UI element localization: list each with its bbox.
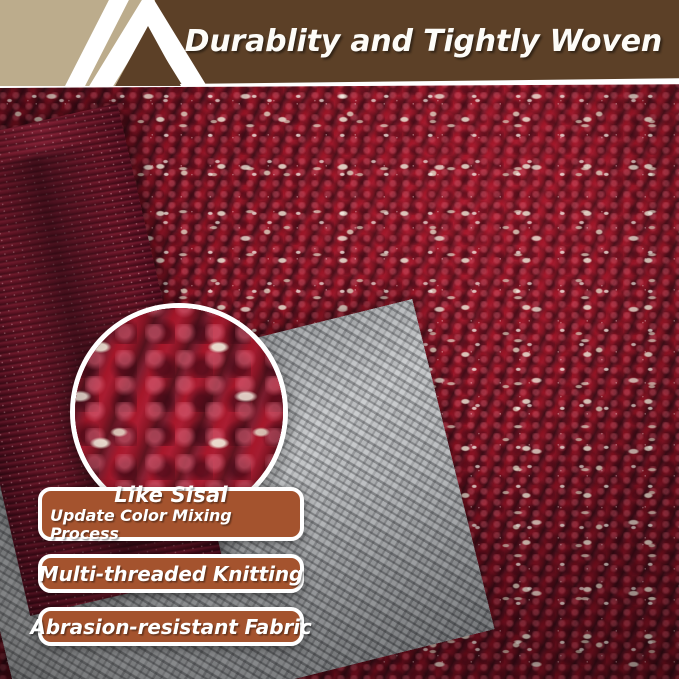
feature-label-multi-threaded-knitting[interactable]: Multi-threaded Knitting: [38, 554, 304, 593]
page-title: Durablity and Tightly Woven: [198, 0, 668, 82]
feature-label-title: Abrasion-resistant Fabric: [30, 617, 311, 637]
feature-label-like-sisal[interactable]: Like Sisal Update Color Mixing Process: [38, 487, 304, 541]
header-banner: Durablity and Tightly Woven: [0, 0, 679, 86]
feature-label-title: Multi-threaded Knitting: [39, 564, 303, 584]
feature-label-subtitle: Update Color Mixing Process: [50, 507, 292, 542]
product-feature-image: Durablity and Tightly Woven Like Sisal U…: [0, 0, 679, 679]
feature-label-abrasion-resistant-fabric[interactable]: Abrasion-resistant Fabric: [38, 607, 304, 646]
feature-label-title: Like Sisal: [114, 485, 228, 506]
